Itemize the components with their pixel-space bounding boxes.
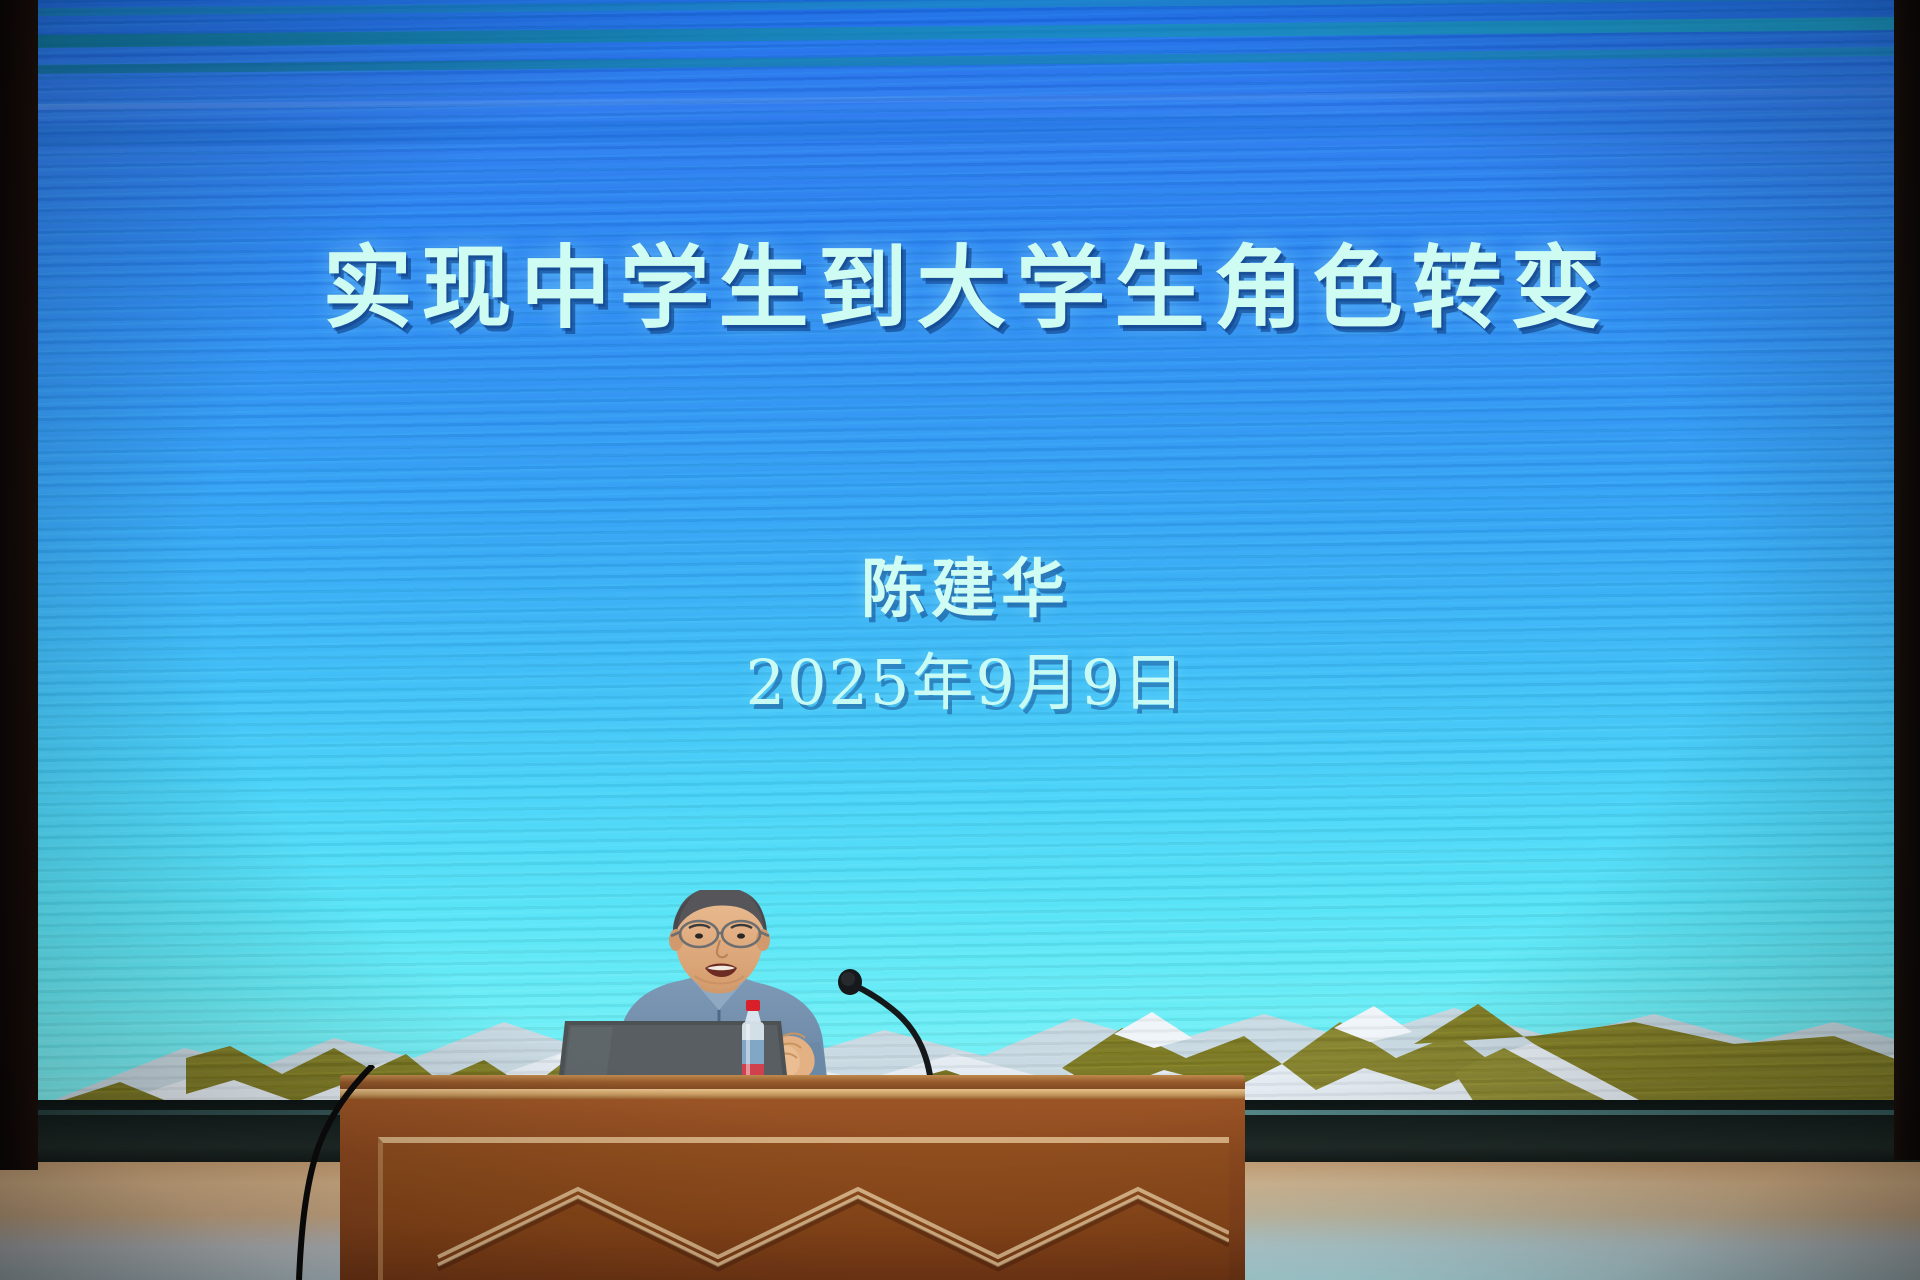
auditorium-wall-left: [0, 0, 38, 1170]
projector-band-blue: [34, 111, 1898, 148]
slide-date: 2025年9月9日: [34, 632, 1898, 722]
projector-band-light: [34, 88, 1898, 110]
slide-presenter-name: 陈建华: [34, 538, 1898, 630]
projector-band-teal-1: [34, 17, 1898, 48]
projection-screen: 实现中学生到大学生角色转变 陈建华 2025年9月9日: [34, 0, 1898, 1168]
floor-cable: [255, 1065, 405, 1280]
auditorium-wall-right: [1894, 0, 1920, 1160]
podium-zigzag-panel: [378, 1137, 1229, 1280]
wooden-podium: [340, 1075, 1245, 1280]
lecture-photo: 实现中学生到大学生角色转变 陈建华 2025年9月9日: [0, 0, 1920, 1280]
projector-band-teal-2: [34, 47, 1898, 74]
slide-title: 实现中学生到大学生角色转变: [34, 215, 1898, 345]
projector-band-top: [34, 0, 1898, 16]
